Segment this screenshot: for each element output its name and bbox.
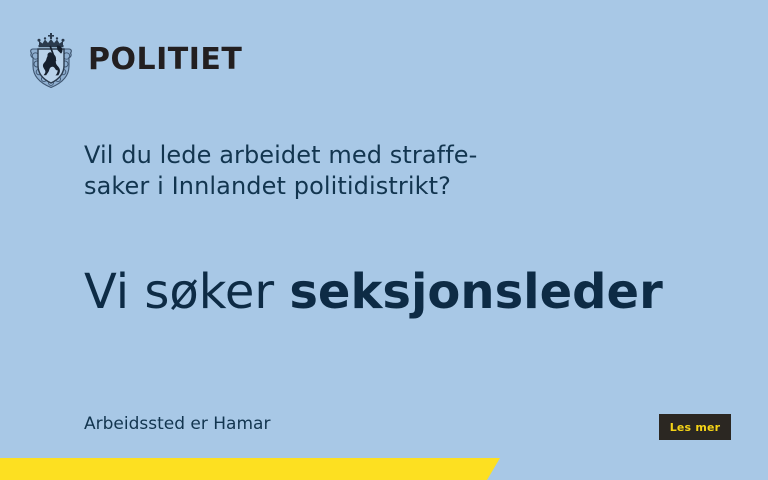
read-more-button[interactable]: Les mer	[659, 414, 731, 440]
headline-light-part: Vi søker	[84, 264, 289, 320]
headline-bold-part: seksjonsleder	[289, 264, 662, 320]
norwegian-coat-of-arms-icon	[26, 32, 76, 88]
brand-logo[interactable]: POLITIET	[26, 32, 242, 88]
kicker-line-2: saker i Innlandet politidistrikt?	[84, 171, 604, 202]
recruitment-banner: POLITIET Vil du lede arbeidet med straff…	[0, 0, 768, 480]
kicker-line-1: Vil du lede arbeidet med straffe-	[84, 140, 604, 171]
kicker-text: Vil du lede arbeidet med straffe- saker …	[84, 140, 604, 202]
headline: Vi søker seksjonsleder	[84, 264, 663, 320]
read-more-label: Les mer	[670, 422, 721, 433]
brand-wordmark: POLITIET	[88, 45, 242, 75]
yellow-accent-stripe	[0, 458, 500, 480]
location-text: Arbeidssted er Hamar	[84, 412, 270, 436]
